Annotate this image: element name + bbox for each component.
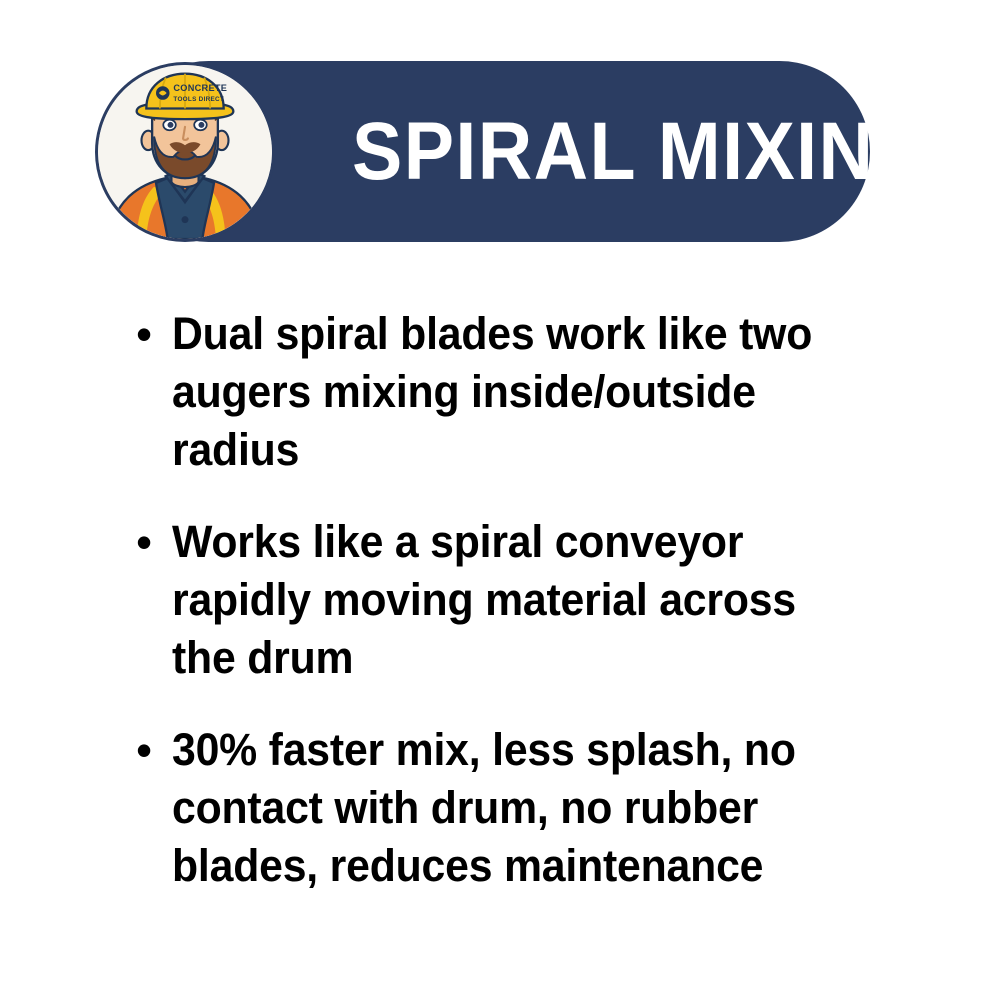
bullet-marker-icon: • bbox=[130, 513, 172, 571]
slide-root: SPIRAL MIXING bbox=[0, 0, 1000, 1000]
list-item: • Dual spiral blades work like two auger… bbox=[130, 305, 890, 479]
feature-bullet-list: • Dual spiral blades work like two auger… bbox=[130, 305, 890, 895]
bullet-text: Works like a spiral conveyor rapidly mov… bbox=[172, 513, 854, 687]
avatar: CONCRETE TOOLS DIRECT bbox=[95, 62, 275, 242]
svg-text:CONCRETE: CONCRETE bbox=[173, 83, 227, 93]
bullet-marker-icon: • bbox=[130, 305, 172, 363]
list-item: • Works like a spiral conveyor rapidly m… bbox=[130, 513, 890, 687]
bullet-text: 30% faster mix, less splash, no contact … bbox=[172, 721, 854, 895]
list-item: • 30% faster mix, less splash, no contac… bbox=[130, 721, 890, 895]
svg-text:TOOLS DIRECT: TOOLS DIRECT bbox=[173, 96, 224, 103]
bullet-text: Dual spiral blades work like two augers … bbox=[172, 305, 854, 479]
page-title: SPIRAL MIXING bbox=[352, 61, 934, 242]
bullet-marker-icon: • bbox=[130, 721, 172, 779]
worker-illustration-icon: CONCRETE TOOLS DIRECT bbox=[98, 65, 272, 239]
